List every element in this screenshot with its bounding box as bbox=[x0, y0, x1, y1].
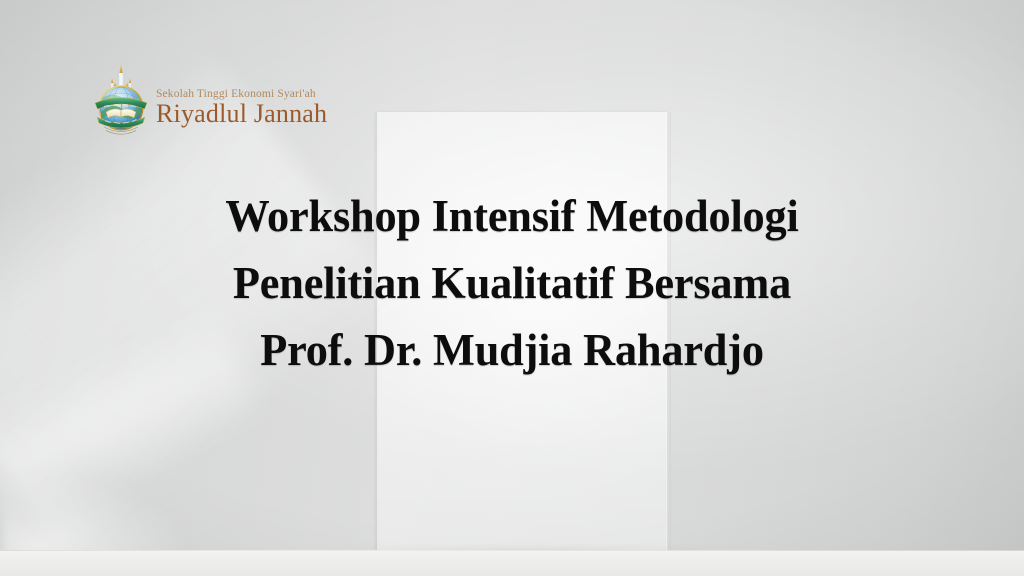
title-line-1: Workshop Intensif Metodologi bbox=[8, 183, 1017, 250]
institution-logo-text: Sekolah Tinggi Ekonomi Syari'ah Riyadlul… bbox=[156, 72, 327, 129]
stes-riyadlul-jannah-emblem-icon bbox=[92, 62, 150, 138]
institution-logo: Sekolah Tinggi Ekonomi Syari'ah Riyadlul… bbox=[92, 62, 327, 138]
title-line-2: Penelitian Kualitatif Bersama bbox=[8, 250, 1017, 317]
floor-surface bbox=[0, 551, 1024, 576]
slide-title: Workshop Intensif Metodologi Penelitian … bbox=[0, 183, 1024, 384]
title-line-3: Prof. Dr. Mudjia Rahardjo bbox=[8, 317, 1017, 384]
institution-name: Riyadlul Jannah bbox=[156, 100, 327, 128]
title-slide: Sekolah Tinggi Ekonomi Syari'ah Riyadlul… bbox=[0, 0, 1024, 576]
